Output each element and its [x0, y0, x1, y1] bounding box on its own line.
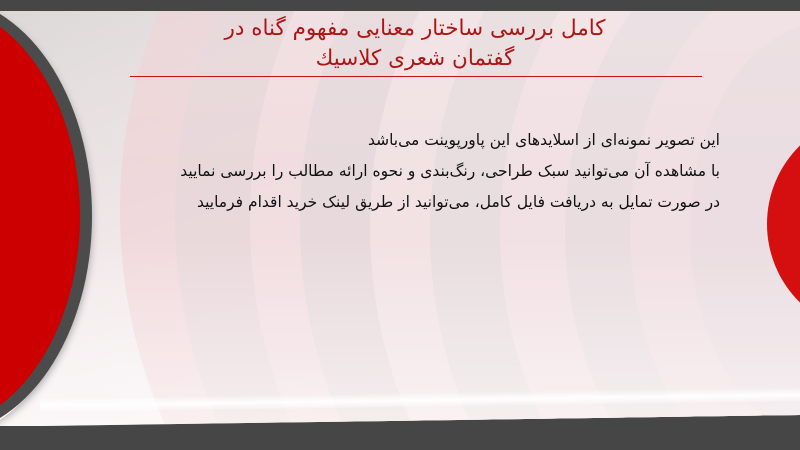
slide-title-line-2: گفتمان شعری کلاسیك [120, 44, 710, 74]
title-red-rule [130, 76, 702, 77]
body-line-1: این تصویر نمونه‌ای از اسلایدهای این پاور… [80, 125, 720, 156]
top-dark-bar [0, 0, 800, 11]
slide-body-text: این تصویر نمونه‌ای از اسلایدهای این پاور… [80, 125, 720, 218]
body-line-2: با مشاهده آن می‌توانید سبک طراحی، رنگ‌بن… [80, 156, 720, 187]
slide-title: کامل بررسی ساختار معنایی مفهوم گناه در گ… [120, 14, 710, 74]
right-red-circle [767, 114, 800, 334]
bottom-dark-bar [0, 428, 800, 450]
slide-title-line-1: کامل بررسی ساختار معنایی مفهوم گناه در [120, 14, 710, 44]
presentation-slide: کامل بررسی ساختار معنایی مفهوم گناه در گ… [0, 0, 800, 450]
body-line-3: در صورت تمایل به دریافت فایل کامل، می‌تو… [80, 187, 720, 218]
